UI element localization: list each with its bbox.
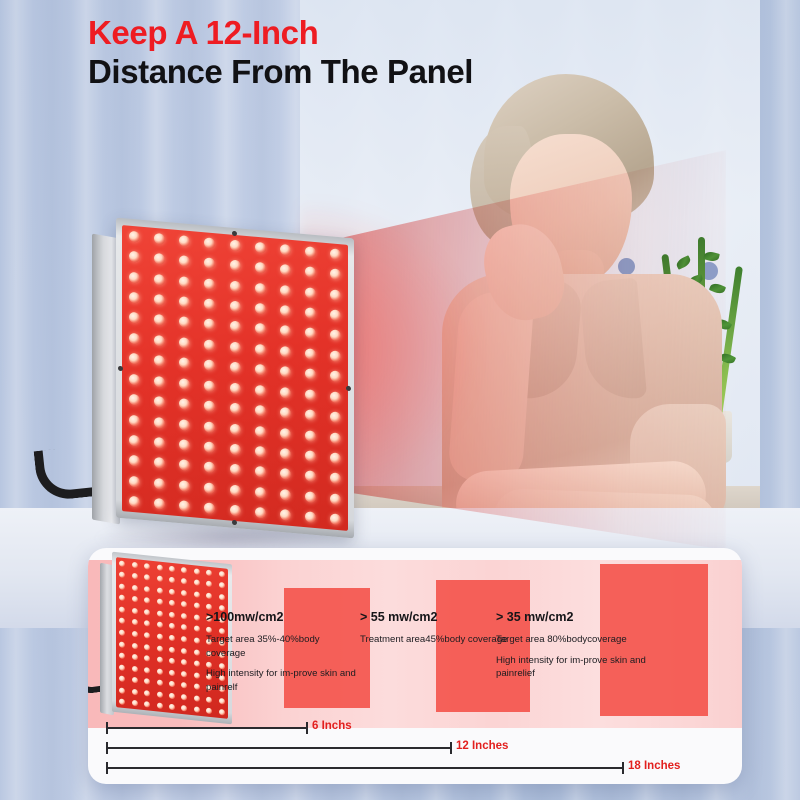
panel-screw [346, 386, 351, 391]
led-bulb-icon [181, 613, 187, 620]
led-grid [122, 225, 348, 531]
led-bulb-icon [219, 594, 225, 601]
led-bulb-icon [132, 631, 138, 638]
led-bulb-icon [119, 560, 125, 567]
led-bulb-icon [280, 284, 291, 296]
led-bulb-icon [179, 255, 190, 267]
tick-end [306, 722, 308, 734]
led-bulb-icon [119, 629, 125, 636]
led-bulb-icon [119, 641, 125, 648]
led-bulb-icon [204, 380, 215, 392]
led-bulb-icon [280, 325, 291, 337]
led-bulb-icon [144, 655, 150, 662]
led-bulb-icon [154, 355, 165, 367]
led-bulb-icon [179, 317, 190, 329]
led-bulb-icon [154, 416, 165, 428]
led-bulb-icon [204, 462, 215, 474]
led-bulb-icon [119, 618, 125, 625]
led-bulb-icon [132, 562, 138, 569]
led-bulb-icon [204, 421, 215, 433]
led-bulb-icon [129, 251, 140, 263]
led-bulb-icon [181, 578, 187, 585]
led-bulb-icon [305, 409, 316, 421]
led-bulb-icon [119, 606, 125, 613]
led-bulb-icon [219, 582, 225, 589]
led-bulb-icon [132, 677, 138, 684]
led-bulb-icon [181, 624, 187, 631]
led-bulb-icon [230, 341, 241, 353]
led-bulb-icon [154, 294, 165, 306]
led-bulb-icon [280, 427, 291, 439]
coverage-diagram-card: >100mw/cm2 Target area 35%-40%body cover… [88, 548, 742, 784]
led-bulb-icon [194, 591, 200, 598]
led-bulb-icon [305, 287, 316, 299]
led-bulb-icon [255, 364, 266, 376]
led-bulb-icon [157, 680, 163, 687]
led-bulb-icon [157, 587, 163, 594]
led-bulb-icon [144, 586, 150, 593]
led-bulb-icon [255, 405, 266, 417]
led-bulb-icon [255, 344, 266, 356]
coverage-body: Target area 80%bodycoverage High intensi… [496, 633, 672, 681]
led-bulb-icon [154, 396, 165, 408]
led-bulb-icon [230, 464, 241, 476]
led-bulb-icon [129, 394, 140, 406]
led-bulb-icon [132, 573, 138, 580]
led-bulb-icon [169, 704, 175, 711]
led-bulb-icon [280, 366, 291, 378]
led-bulb-icon [154, 498, 165, 510]
led-bulb-icon [230, 505, 241, 517]
led-bulb-icon [230, 362, 241, 374]
led-bulb-icon [255, 323, 266, 335]
led-bulb-icon [157, 564, 163, 571]
led-bulb-icon [129, 312, 140, 324]
led-bulb-icon [154, 457, 165, 469]
coverage-line: Target area 35%-40%body coverage [206, 633, 356, 660]
led-bulb-icon [194, 683, 200, 690]
led-bulb-icon [157, 691, 163, 698]
led-bulb-icon [144, 667, 150, 674]
led-bulb-icon [194, 649, 200, 656]
led-bulb-icon [179, 439, 190, 451]
led-bulb-icon [280, 264, 291, 276]
led-bulb-icon [129, 333, 140, 345]
coverage-heading: > 35 mw/cm2 [496, 610, 672, 624]
led-bulb-icon [330, 391, 341, 403]
led-bulb-icon [230, 382, 241, 394]
led-bulb-icon [132, 585, 138, 592]
led-bulb-icon [132, 665, 138, 672]
led-bulb-icon [181, 682, 187, 689]
led-bulb-icon [181, 705, 187, 712]
panel-screw [232, 520, 237, 525]
coverage-line: Treatment area45%body coverage [360, 633, 510, 647]
led-bulb-icon [255, 241, 266, 253]
led-bulb-icon [179, 398, 190, 410]
led-bulb-icon [204, 503, 215, 515]
led-bulb-icon [181, 694, 187, 701]
led-bulb-icon [230, 260, 241, 272]
led-bulb-icon [157, 668, 163, 675]
led-bulb-icon [154, 314, 165, 326]
led-bulb-icon [206, 592, 212, 599]
led-bulb-icon [132, 608, 138, 615]
led-bulb-icon [194, 580, 200, 587]
led-bulb-icon [219, 709, 225, 716]
measure-line [106, 767, 622, 769]
led-bulb-icon [280, 346, 291, 358]
led-bulb-icon [204, 441, 215, 453]
coverage-body: Target area 35%-40%body coverage High in… [206, 633, 356, 694]
led-bulb-icon [119, 583, 125, 590]
led-bulb-icon [206, 708, 212, 715]
led-bulb-icon [169, 600, 175, 607]
led-bulb-icon [204, 400, 215, 412]
measure-line [106, 747, 450, 749]
led-bulb-icon [204, 237, 215, 249]
led-bulb-icon [179, 357, 190, 369]
led-bulb-icon [206, 581, 212, 588]
led-bulb-icon [181, 590, 187, 597]
headline: Keep A 12-Inch Distance From The Panel [88, 14, 473, 92]
led-bulb-icon [305, 491, 316, 503]
led-bulb-icon [157, 576, 163, 583]
led-bulb-icon [144, 644, 150, 651]
led-bulb-icon [280, 509, 291, 521]
led-bulb-icon [181, 601, 187, 608]
led-bulb-icon [194, 603, 200, 610]
led-bulb-icon [181, 648, 187, 655]
led-bulb-icon [132, 596, 138, 603]
coverage-line: High intensity for im-prove skin and pai… [496, 654, 672, 681]
led-bulb-icon [132, 688, 138, 695]
led-bulb-icon [157, 656, 163, 663]
led-bulb-icon [255, 466, 266, 478]
led-bulb-icon [305, 430, 316, 442]
led-bulb-icon [119, 653, 125, 660]
led-bulb-icon [204, 278, 215, 290]
led-bulb-icon [144, 678, 150, 685]
led-bulb-icon [169, 565, 175, 572]
led-bulb-icon [194, 672, 200, 679]
led-bulb-icon [129, 435, 140, 447]
led-bulb-icon [179, 480, 190, 492]
led-bulb-icon [230, 239, 241, 251]
tick-end [622, 762, 624, 774]
led-bulb-icon [330, 514, 341, 526]
led-bulb-icon [330, 371, 341, 383]
led-bulb-icon [305, 389, 316, 401]
led-bulb-icon [154, 478, 165, 490]
led-bulb-icon [255, 282, 266, 294]
led-bulb-icon [255, 446, 266, 458]
led-bulb-icon [179, 378, 190, 390]
panel-front-frame [116, 218, 354, 539]
led-bulb-icon [305, 246, 316, 258]
led-bulb-icon [169, 669, 175, 676]
led-bulb-icon [305, 328, 316, 340]
led-bulb-icon [179, 460, 190, 472]
led-bulb-icon [255, 303, 266, 315]
panel-screw [232, 231, 237, 236]
led-bulb-icon [330, 432, 341, 444]
led-bulb-icon [255, 262, 266, 274]
led-bulb-icon [154, 437, 165, 449]
led-bulb-icon [129, 476, 140, 488]
led-bulb-icon [119, 595, 125, 602]
led-bulb-icon [280, 305, 291, 317]
led-bulb-icon [181, 659, 187, 666]
led-bulb-icon [330, 289, 341, 301]
led-bulb-icon [157, 622, 163, 629]
led-bulb-icon [305, 368, 316, 380]
led-bulb-icon [154, 233, 165, 245]
led-bulb-icon [169, 658, 175, 665]
led-bulb-icon [280, 448, 291, 460]
led-bulb-icon [194, 568, 200, 575]
led-bulb-icon [280, 489, 291, 501]
led-bulb-icon [230, 423, 241, 435]
measure-line [106, 727, 306, 729]
coverage-heading: > 55 mw/cm2 [360, 610, 510, 624]
led-bulb-icon [179, 296, 190, 308]
measurement-label: 18 Inches [628, 760, 680, 772]
led-bulb-icon [169, 646, 175, 653]
led-bulb-icon [204, 257, 215, 269]
led-panel-main [92, 228, 360, 540]
led-bulb-icon [255, 425, 266, 437]
led-bulb-icon [169, 612, 175, 619]
led-bulb-icon [129, 292, 140, 304]
led-bulb-icon [330, 309, 341, 321]
led-bulb-icon [179, 276, 190, 288]
led-bulb-icon [255, 487, 266, 499]
led-bulb-icon [132, 700, 138, 707]
led-bulb-icon [169, 681, 175, 688]
coverage-heading: >100mw/cm2 [206, 610, 356, 624]
led-bulb-icon [280, 468, 291, 480]
led-bulb-icon [305, 307, 316, 319]
led-bulb-icon [194, 707, 200, 714]
led-bulb-icon [157, 599, 163, 606]
led-bulb-icon [132, 642, 138, 649]
led-bulb-icon [330, 473, 341, 485]
led-bulb-icon [169, 623, 175, 630]
led-bulb-icon [154, 335, 165, 347]
led-bulb-icon [169, 692, 175, 699]
led-bulb-icon [255, 507, 266, 519]
led-bulb-icon [230, 403, 241, 415]
led-bulb-icon [330, 268, 341, 280]
led-bulb-icon [144, 574, 150, 581]
led-bulb-icon [181, 636, 187, 643]
led-bulb-icon [169, 577, 175, 584]
led-bulb-icon [119, 572, 125, 579]
measurement-label: 12 Inches [456, 740, 508, 752]
led-bulb-icon [305, 511, 316, 523]
led-bulb-icon [119, 664, 125, 671]
led-bulb-icon [230, 280, 241, 292]
led-bulb-icon [129, 373, 140, 385]
led-bulb-icon [194, 660, 200, 667]
led-bulb-icon [129, 271, 140, 283]
led-bulb-icon [280, 244, 291, 256]
coverage-line: High intensity for im-prove skin and pai… [206, 667, 356, 694]
led-bulb-icon [194, 637, 200, 644]
product-marketing-image: Keep A 12-Inch Distance From The Panel >… [0, 0, 800, 800]
coverage-column-1: >100mw/cm2 Target area 35%-40%body cover… [206, 610, 356, 701]
led-bulb-icon [144, 690, 150, 697]
led-bulb-icon [255, 384, 266, 396]
headline-line-1: Keep A 12-Inch [88, 14, 473, 53]
led-bulb-icon [280, 387, 291, 399]
led-bulb-icon [144, 632, 150, 639]
coverage-body: Treatment area45%body coverage [360, 633, 510, 647]
led-bulb-icon [144, 597, 150, 604]
led-bulb-icon [204, 319, 215, 331]
led-bulb-icon [204, 360, 215, 372]
led-bulb-icon [330, 411, 341, 423]
led-bulb-icon [230, 444, 241, 456]
led-bulb-icon [330, 330, 341, 342]
led-bulb-icon [206, 569, 212, 576]
led-bulb-icon [305, 450, 316, 462]
led-bulb-icon [144, 621, 150, 628]
led-bulb-icon [204, 482, 215, 494]
led-bulb-icon [330, 350, 341, 362]
coverage-column-3: > 35 mw/cm2 Target area 80%bodycoverage … [496, 610, 672, 688]
led-bulb-icon [154, 253, 165, 265]
led-bulb-icon [129, 414, 140, 426]
led-bulb-icon [119, 687, 125, 694]
led-bulb-icon [119, 699, 125, 706]
led-bulb-icon [169, 635, 175, 642]
led-bulb-icon [129, 353, 140, 365]
led-bulb-icon [330, 493, 341, 505]
led-bulb-icon [144, 563, 150, 570]
coverage-line: Target area 80%bodycoverage [496, 633, 672, 647]
led-bulb-icon [181, 567, 187, 574]
led-bulb-icon [129, 230, 140, 242]
led-bulb-icon [157, 610, 163, 617]
led-bulb-icon [129, 455, 140, 467]
led-bulb-icon [154, 376, 165, 388]
led-bulb-icon [179, 500, 190, 512]
led-bulb-icon [132, 654, 138, 661]
led-bulb-icon [179, 235, 190, 247]
coverage-column-2: > 55 mw/cm2 Treatment area45%body covera… [360, 610, 510, 654]
led-bulb-icon [305, 348, 316, 360]
led-bulb-icon [230, 484, 241, 496]
led-bulb-icon [157, 703, 163, 710]
led-bulb-icon [144, 701, 150, 708]
led-bulb-icon [181, 671, 187, 678]
led-bulb-icon [330, 248, 341, 260]
led-bulb-icon [144, 609, 150, 616]
led-bulb-icon [132, 619, 138, 626]
led-bulb-icon [330, 452, 341, 464]
led-bulb-icon [204, 298, 215, 310]
led-bulb-icon [280, 407, 291, 419]
led-bulb-icon [230, 301, 241, 313]
led-bulb-icon [179, 419, 190, 431]
led-bulb-icon [194, 626, 200, 633]
led-bulb-icon [305, 471, 316, 483]
distance-measurements: 6 Inchs 12 Inches 18 Inches [88, 722, 742, 780]
led-bulb-icon [179, 337, 190, 349]
led-bulb-icon [119, 676, 125, 683]
measurement-label: 6 Inchs [312, 720, 352, 732]
led-bulb-icon [157, 645, 163, 652]
led-bulb-icon [157, 633, 163, 640]
led-bulb-icon [194, 614, 200, 621]
led-bulb-icon [219, 571, 225, 578]
led-bulb-icon [230, 321, 241, 333]
led-bulb-icon [154, 273, 165, 285]
led-bulb-icon [194, 695, 200, 702]
led-bulb-icon [169, 589, 175, 596]
headline-line-2: Distance From The Panel [88, 53, 473, 92]
panel-screw [118, 366, 123, 371]
led-bulb-icon [204, 339, 215, 351]
led-bulb-icon [129, 496, 140, 508]
tick-end [450, 742, 452, 754]
led-bulb-icon [305, 266, 316, 278]
